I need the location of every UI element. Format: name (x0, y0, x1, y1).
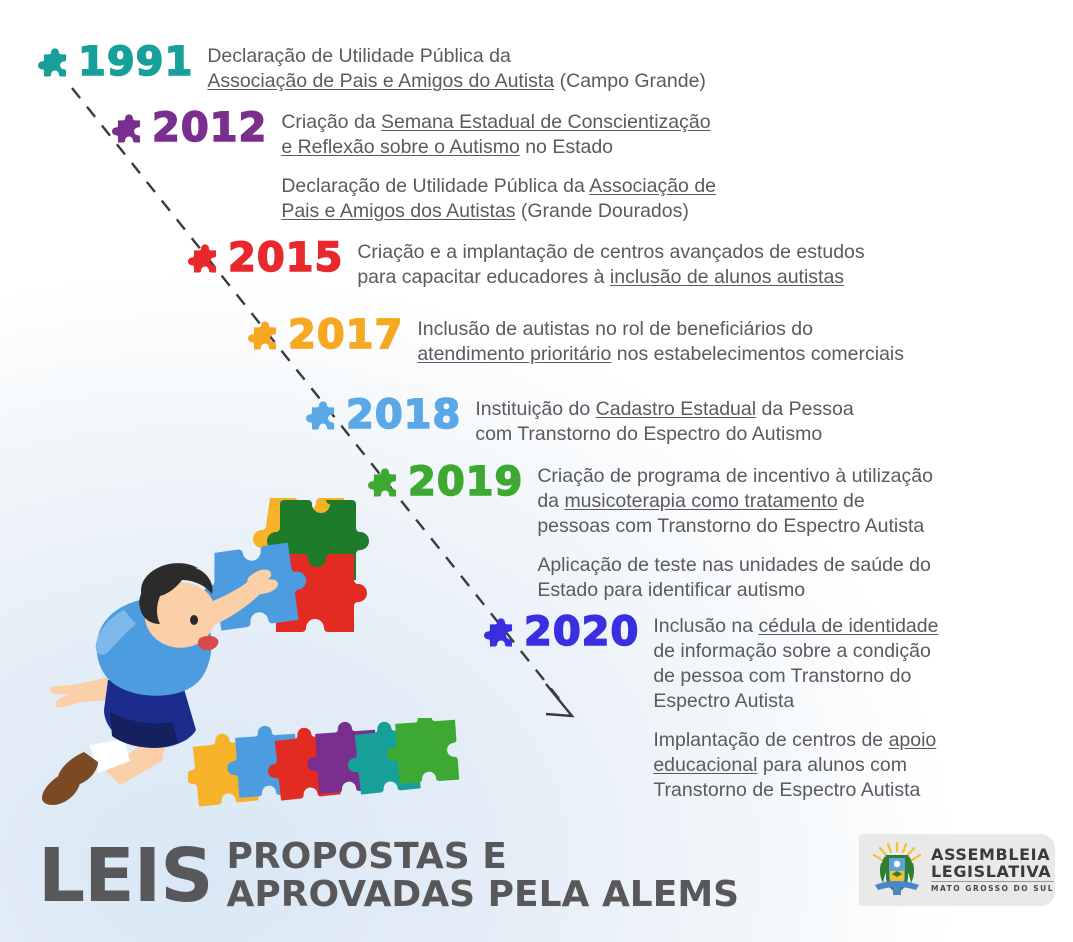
timeline-entry-2020: 2020Inclusão na cédula de identidadede i… (484, 612, 938, 803)
timeline-entry-1991: 1991Declaração de Utilidade Pública daAs… (38, 42, 706, 94)
timeline-paragraph: Criação da Semana Estadual de Conscienti… (281, 110, 716, 160)
body-text: com Transtorno do Espectro do Autismo (475, 423, 822, 445)
footer-title: LEIS PROPOSTAS E APROVADAS PELA ALEMS (38, 838, 739, 914)
body-text: (Campo Grande) (554, 70, 706, 92)
puzzle-piece-icon (112, 111, 146, 145)
highlight-text: inclusão de alunos autistas (610, 266, 844, 288)
puzzle-piece-icon (484, 615, 518, 649)
title-subtitle-line2: APROVADAS PELA ALEMS (227, 876, 740, 914)
puzzle-piece-icon (188, 241, 222, 275)
timeline-entry-text-1991: Declaração de Utilidade Pública daAssoci… (207, 42, 706, 94)
puzzle-piece-icon (248, 318, 282, 352)
logo-line-legislativa: LEGISLATIVA (931, 863, 1054, 880)
title-subtitle: PROPOSTAS E APROVADAS PELA ALEMS (227, 838, 740, 914)
title-leis: LEIS (38, 840, 213, 912)
footer: LEIS PROPOSTAS E APROVADAS PELA ALEMS (0, 812, 1073, 942)
highlight-text: Associação de Pais e Amigos do Autista (207, 70, 554, 92)
year-label-2019: 2019 (408, 462, 523, 502)
body-text: pessoas com Transtorno do Espectro Autis… (537, 515, 924, 537)
body-text: para capacitar educadores à (357, 266, 610, 288)
highlight-text: musicoterapia como tratamento (564, 490, 837, 512)
coat-of-arms-icon (869, 841, 925, 899)
timeline-paragraph: Aplicação de teste nas unidades de saúde… (537, 553, 933, 603)
body-text: para alunos com (757, 754, 907, 776)
timeline-entry-2019: 2019Criação de programa de incentivo à u… (368, 462, 933, 603)
body-text: Aplicação de teste nas unidades de saúde… (537, 554, 931, 576)
timeline-paragraph: Inclusão de autistas no rol de beneficiá… (417, 317, 904, 367)
timeline-marker-2020: 2020 (484, 612, 639, 652)
infographic-page: 1991Declaração de Utilidade Pública daAs… (0, 0, 1073, 942)
logo-line-assembleia: ASSEMBLEIA (931, 846, 1054, 863)
year-label-2020: 2020 (524, 612, 639, 652)
body-text: Criação de programa de incentivo à utili… (537, 465, 933, 487)
body-text: Declaração de Utilidade Pública da (281, 175, 589, 197)
puzzle-piece-icon (306, 398, 340, 432)
timeline-paragraph: Criação de programa de incentivo à utili… (537, 464, 933, 539)
timeline-paragraph: Declaração de Utilidade Pública da Assoc… (281, 174, 716, 224)
body-text: nos estabelecimentos comerciais (611, 343, 904, 365)
body-text: Transtorno de Espectro Autista (653, 779, 920, 801)
puzzle-piece-icon (484, 615, 518, 649)
timeline-marker-2017: 2017 (248, 315, 403, 355)
logo-text: ASSEMBLEIA LEGISLATIVA MATO GROSSO DO SU… (931, 846, 1054, 895)
body-text: Declaração de Utilidade Pública da (207, 45, 511, 67)
body-text: Criação da (281, 111, 381, 133)
body-text: Estado para identificar autismo (537, 579, 805, 601)
highlight-text: educacional (653, 754, 757, 776)
year-label-2012: 2012 (152, 108, 267, 148)
timeline-paragraph: Implantação de centros de apoioeducacion… (653, 728, 938, 803)
alems-logo: ASSEMBLEIA LEGISLATIVA MATO GROSSO DO SU… (859, 834, 1055, 906)
body-text: da (537, 490, 564, 512)
body-text: da Pessoa (756, 398, 854, 420)
puzzle-piece-icon (188, 241, 222, 275)
highlight-text: cédula de identidade (758, 615, 938, 637)
timeline-entry-text-2012: Criação da Semana Estadual de Conscienti… (281, 108, 716, 224)
puzzle-piece-icon (306, 398, 340, 432)
body-text: de informação sobre a condição (653, 640, 931, 662)
highlight-text: Pais e Amigos dos Autistas (281, 200, 515, 222)
timeline-entry-text-2020: Inclusão na cédula de identidadede infor… (653, 612, 938, 803)
body-text: Inclusão na (653, 615, 758, 637)
timeline-entry-2012: 2012Criação da Semana Estadual de Consci… (112, 108, 716, 224)
timeline-paragraph: Inclusão na cédula de identidadede infor… (653, 614, 938, 714)
timeline-marker-2018: 2018 (306, 395, 461, 435)
highlight-text: Cadastro Estadual (596, 398, 756, 420)
body-text: no Estado (520, 136, 613, 158)
timeline-entry-2015: 2015Criação e a implantação de centros a… (188, 238, 865, 290)
timeline-paragraph: Criação e a implantação de centros avanç… (357, 240, 864, 290)
timeline-entry-text-2018: Instituição do Cadastro Estadual da Pess… (475, 395, 853, 447)
timeline-entry-2017: 2017Inclusão de autistas no rol de benef… (248, 315, 904, 367)
logo-line-state: MATO GROSSO DO SUL (931, 881, 1054, 895)
puzzle-piece-icon (112, 111, 146, 145)
puzzle-piece-icon (38, 45, 72, 79)
timeline-paragraph: Instituição do Cadastro Estadual da Pess… (475, 397, 853, 447)
timeline-marker-2019: 2019 (368, 462, 523, 502)
body-text: Instituição do (475, 398, 595, 420)
body-text: de (838, 490, 865, 512)
timeline-entry-text-2017: Inclusão de autistas no rol de beneficiá… (417, 315, 904, 367)
puzzle-row-decoration (188, 718, 488, 810)
timeline-marker-2012: 2012 (112, 108, 267, 148)
highlight-text: Associação de (589, 175, 716, 197)
body-text: (Grande Dourados) (515, 200, 688, 222)
year-label-2018: 2018 (346, 395, 461, 435)
title-subtitle-line1: PROPOSTAS E (227, 838, 740, 876)
timeline-marker-1991: 1991 (38, 42, 193, 82)
puzzle-piece-icon (248, 318, 282, 352)
year-label-1991: 1991 (78, 42, 193, 82)
body-text: de pessoa com Transtorno do (653, 665, 911, 687)
highlight-text: apoio (889, 729, 937, 751)
highlight-text: atendimento prioritário (417, 343, 611, 365)
body-text: Implantação de centros de (653, 729, 888, 751)
year-label-2017: 2017 (288, 315, 403, 355)
body-text: Criação e a implantação de centros avanç… (357, 241, 864, 263)
timeline-entry-text-2019: Criação de programa de incentivo à utili… (537, 462, 933, 603)
body-text: Espectro Autista (653, 690, 794, 712)
highlight-text: Semana Estadual de Conscientização (381, 111, 711, 133)
body-text: Inclusão de autistas no rol de beneficiá… (417, 318, 813, 340)
timeline-marker-2015: 2015 (188, 238, 343, 278)
timeline-paragraph: Declaração de Utilidade Pública daAssoci… (207, 44, 706, 94)
timeline-entry-2018: 2018Instituição do Cadastro Estadual da … (306, 395, 854, 447)
year-label-2015: 2015 (228, 238, 343, 278)
highlight-text: e Reflexão sobre o Autismo (281, 136, 519, 158)
puzzle-piece-icon (38, 45, 72, 79)
timeline-entry-text-2015: Criação e a implantação de centros avanç… (357, 238, 864, 290)
